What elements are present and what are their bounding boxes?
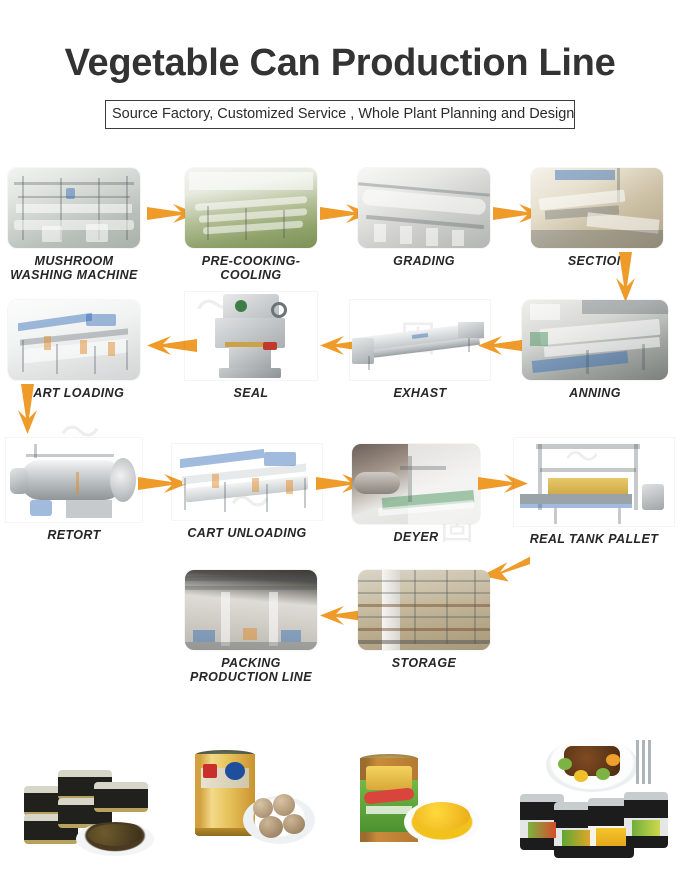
flow-step-exhast[interactable]: EXHAST [350, 300, 490, 400]
flow-step-label: CART UNLOADING [172, 526, 322, 540]
flow-step-pre-cooking-cooling[interactable]: PRE-COOKING-COOLING [185, 168, 317, 283]
flow-step-mushroom-washing-machine[interactable]: MUSHROOM WASHING MACHINE [8, 168, 140, 283]
flow-arrow-down-icon [14, 384, 42, 434]
flow-step-label: STORAGE [358, 656, 490, 670]
flow-step-label: PRE-COOKING-COOLING [185, 254, 317, 283]
flow-step-anning[interactable]: ANNING [522, 300, 668, 400]
deyer-photo [352, 444, 480, 524]
storage-photo [358, 570, 490, 650]
flow-step-label: REAL TANK PALLET [514, 532, 674, 546]
product-photos-row [0, 726, 680, 891]
flow-step-seal[interactable]: SEAL [185, 292, 317, 400]
flow-arrow-down-icon [612, 252, 640, 302]
flow-step-storage[interactable]: STORAGE [358, 570, 490, 670]
flow-step-cart-unloading[interactable]: CART UNLOADING [172, 444, 322, 540]
anning-photo [522, 300, 668, 380]
flow-step-label: DEYER [352, 530, 480, 544]
packing-production-line-photo [185, 570, 317, 650]
flow-step-label: RETORT [6, 528, 142, 542]
flow-step-grading[interactable]: GRADING [358, 168, 490, 268]
flow-step-label: ANNING [522, 386, 668, 400]
pre-cooking-cooling-photo [185, 168, 317, 248]
retort-photo [6, 438, 142, 522]
seal-photo [185, 292, 317, 380]
exhast-photo [350, 300, 490, 380]
flow-step-retort[interactable]: RETORT [6, 438, 142, 542]
flow-step-label: GRADING [358, 254, 490, 268]
production-flow-diagram: 〜 固 〜 固 〜 固 〜 固 〜 MUSHROOM WASHING MACHI… [0, 0, 680, 720]
cart-unloading-photo [172, 444, 322, 520]
flow-step-label: PACKING PRODUCTION LINE [185, 656, 317, 685]
grading-photo [358, 168, 490, 248]
section-photo [531, 168, 663, 248]
flow-step-deyer[interactable]: DEYER [352, 444, 480, 544]
product-canned-pickled-vegetables-stack[interactable] [14, 744, 164, 854]
flow-step-section[interactable]: SECTION [531, 168, 663, 268]
flow-step-packing-production-line[interactable]: PACKING PRODUCTION LINE [185, 570, 317, 685]
flow-arrow-left-icon [478, 332, 528, 360]
cart-loading-photo [8, 300, 140, 380]
flow-step-label: MUSHROOM WASHING MACHINE [8, 254, 140, 283]
flow-step-real-tank-pallet[interactable]: REAL TANK PALLET [514, 438, 674, 546]
flow-step-label: SEAL [185, 386, 317, 400]
product-canned-sweet-corn[interactable] [352, 744, 492, 854]
real-tank-pallet-photo [514, 438, 674, 526]
flow-step-label: SECTION [531, 254, 663, 268]
mushroom-washing-machine-photo [8, 168, 140, 248]
product-canned-straw-mushrooms[interactable] [185, 734, 325, 854]
product-daucy-canned-vegetables-assortment[interactable] [510, 736, 670, 861]
flow-step-label: EXHAST [350, 386, 490, 400]
